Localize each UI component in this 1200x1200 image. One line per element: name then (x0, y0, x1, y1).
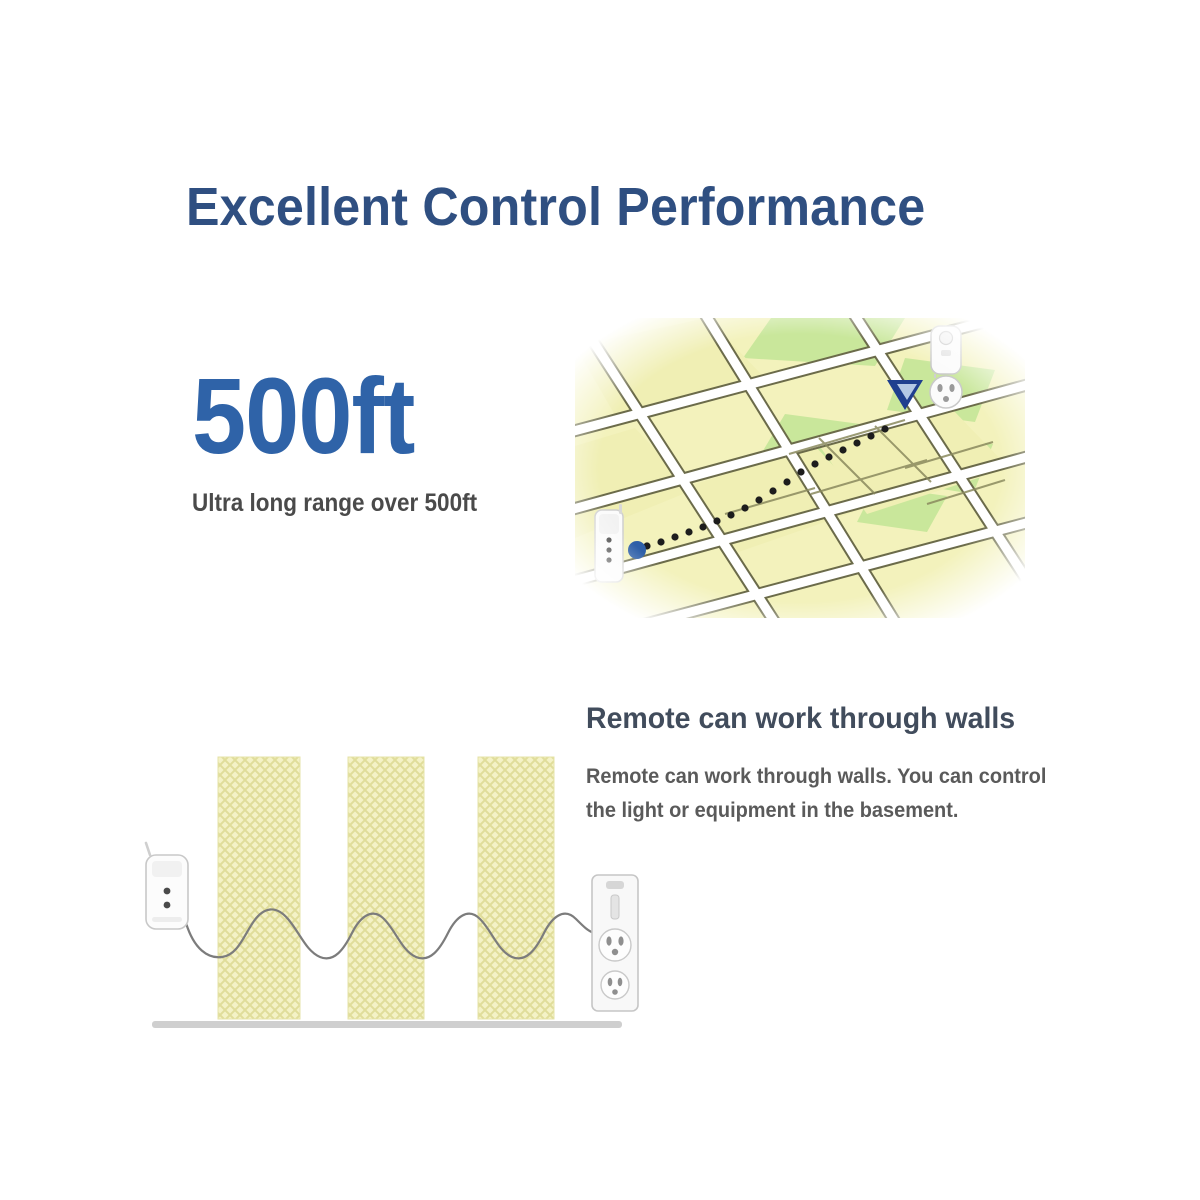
range-caption: Ultra long range over 500ft (192, 488, 498, 518)
wall-column (218, 757, 300, 1019)
feature-text-block: Remote can work through walls Remote can… (586, 700, 1086, 828)
walls-diagram (130, 735, 650, 1055)
product-feature-page: Excellent Control Performance 500ft Ultr… (0, 0, 1200, 1200)
feature-heading: Remote can work through walls (586, 700, 1061, 738)
range-value: 500ft (192, 360, 498, 472)
range-stat-block: 500ft Ultra long range over 500ft (192, 360, 532, 518)
floor-line (152, 1021, 622, 1028)
remote-control-icon (146, 843, 188, 929)
feature-body: Remote can work through walls. You can c… (586, 760, 1080, 828)
wall-column (478, 757, 554, 1019)
page-title: Excellent Control Performance (186, 176, 1023, 238)
wall-outlet-icon (592, 875, 638, 1011)
street-map-illustration (575, 318, 1025, 618)
wall-column (348, 757, 424, 1019)
